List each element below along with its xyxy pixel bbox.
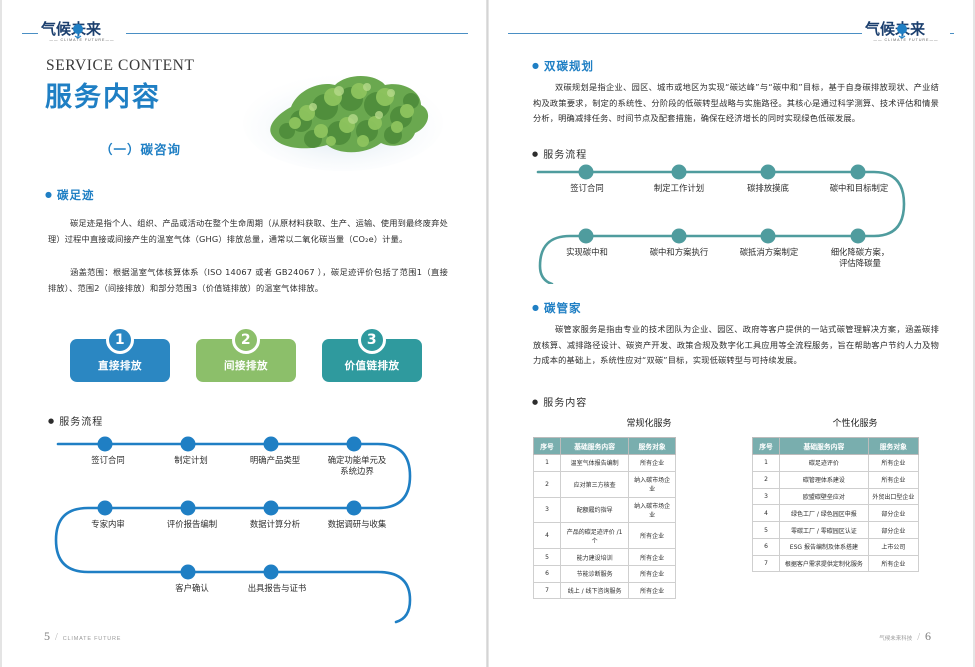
cell-target: 纳入碳市场企业 [629, 497, 676, 523]
logo-caption-right: CLIMATE FUTURE [865, 38, 947, 42]
cell-index: 2 [534, 471, 561, 497]
table-row: 3欧盟碳壁垒应对外贸出口型企业 [753, 488, 919, 505]
cell-target: 所有企业 [629, 582, 676, 599]
heading-carbon-steward: 碳管家 [532, 300, 581, 316]
flow-step-right-6: 碳抵消方案制定 [726, 247, 812, 258]
flow-step-left-5: 数据调研与收集 [312, 519, 402, 530]
footer-page-number-right: 6 [925, 629, 931, 643]
logo-left: 气候未来 CLIMATE FUTURE [38, 21, 126, 47]
table-row: 2应对第三方核查纳入碳市场企业 [534, 471, 676, 497]
cell-target: 上市公司 [868, 538, 918, 555]
table-col-service: 基础服务内容 [561, 438, 629, 455]
cell-service: 线上 / 线下咨询服务 [561, 582, 629, 599]
heading-service-content-label: 服务内容 [543, 398, 587, 409]
cell-target: 所有企业 [629, 523, 676, 549]
flow-step-right-4: 碳中和目标制定 [812, 183, 906, 194]
logo-text-left: 气候未来 [41, 20, 101, 38]
cell-service: 能力建设培训 [561, 549, 629, 566]
cell-service: 温室气体报告编制 [561, 455, 629, 472]
page-title-cn: 服务内容 [45, 75, 161, 114]
cell-service: 配额履约指导 [561, 497, 629, 523]
scope-card-label-3: 价值链排放 [345, 358, 400, 373]
cell-target: 所有企业 [868, 471, 918, 488]
footer-left: 5 / CLIMATE FUTURE [44, 629, 121, 644]
flow-step-left-9: 客户确认 [150, 583, 234, 594]
table-custom-services: 序号 基础服务内容 服务对象 1碳足迹评价所有企业2碳管理体系建设所有企业3欧盟… [752, 437, 919, 572]
paragraph-footprint-2: 涵盖范围：根据温室气体核算体系（ISO 14067 或者 GB24067 ），碳… [48, 265, 448, 296]
paragraph-footprint-1: 碳足迹是指个人、组织、产品或活动在整个生命周期（从原材料获取、生产、运输、使用到… [48, 216, 448, 247]
brochure-spread: 气候未来 CLIMATE FUTURE SERVICE CONTENT 服务内容… [0, 0, 975, 667]
flow-step-right-7: 碳中和方案执行 [637, 247, 721, 258]
scope-card-badge-1: 1 [106, 326, 134, 354]
cell-service: 根据客户需求提供定制化服务 [780, 555, 869, 572]
table-row: 1温室气体报告编制所有企业 [534, 455, 676, 472]
heading-service-flow-right-label: 服务流程 [543, 150, 587, 161]
scope-card-2[interactable]: 2 间接排放 [196, 339, 296, 382]
cell-index: 7 [753, 555, 780, 572]
bullet-dot-icon: ● [532, 150, 539, 158]
flow-step-right-5: 细化降碳方案， 评估降碳量 [816, 247, 904, 269]
cell-target: 所有企业 [629, 565, 676, 582]
heading-service-flow-right: ● 服务流程 [532, 146, 587, 161]
table-row: 5能力建设培训所有企业 [534, 549, 676, 566]
table-body: 1碳足迹评价所有企业2碳管理体系建设所有企业3欧盟碳壁垒应对外贸出口型企业4绿色… [753, 455, 919, 572]
flow-step-left-7: 评价报告编制 [150, 519, 234, 530]
cell-service: 零碳工厂 / 零碳园区认证 [780, 522, 869, 539]
table-col-index: 序号 [753, 438, 780, 455]
table-caption-standard: 常规化服务 [574, 416, 724, 429]
cell-index: 6 [534, 565, 561, 582]
cell-index: 1 [753, 455, 780, 472]
scope-card-label-2: 间接排放 [224, 358, 268, 373]
flow-step-left-10: 出具报告与证书 [233, 583, 321, 594]
logo-text-right: 气候未来 [865, 20, 925, 38]
table-row: 6节能诊断服务所有企业 [534, 565, 676, 582]
cell-service: 碳管理体系建设 [780, 471, 869, 488]
scope-card-badge-2: 2 [232, 326, 260, 354]
cell-service: 应对第三方核查 [561, 471, 629, 497]
forest-illustration [243, 45, 453, 185]
emission-scope-cards: 1 直接排放 2 间接排放 3 价值链排放 [70, 330, 410, 382]
cell-service: 节能诊断服务 [561, 565, 629, 582]
paragraph-planning-text: 双碳规划是指企业、园区、城市或地区为实现“碳达峰”与“碳中和”目标，基于自身碳排… [533, 80, 939, 127]
cell-index: 5 [534, 549, 561, 566]
cell-target: 所有企业 [868, 455, 918, 472]
flow-step-right-3: 碳排放摸底 [729, 183, 807, 194]
cell-service: 绿色工厂 / 绿色园区申报 [780, 505, 869, 522]
cell-target: 所有企业 [868, 555, 918, 572]
table-row: 1碳足迹评价所有企业 [753, 455, 919, 472]
table-row: 6ESG 报告编制及体系搭建上市公司 [753, 538, 919, 555]
logo-caption-left: CLIMATE FUTURE [41, 38, 123, 42]
cell-target: 纳入碳市场企业 [629, 471, 676, 497]
flow-step-right-2: 制定工作计划 [638, 183, 720, 194]
cell-target: 部分企业 [868, 505, 918, 522]
table-col-target: 服务对象 [629, 438, 676, 455]
table-body: 1温室气体报告编制所有企业2应对第三方核查纳入碳市场企业3配额履约指导纳入碳市场… [534, 455, 676, 599]
paragraph-text-2: 涵盖范围：根据温室气体核算体系（ISO 14067 或者 GB24067 ），碳… [48, 265, 448, 296]
cell-target: 部分企业 [868, 522, 918, 539]
section-label: （一）碳咨询 [100, 139, 181, 158]
flow-step-left-8: 专家内审 [68, 519, 148, 530]
cell-index: 3 [534, 497, 561, 523]
cell-service: 产品的碳足迹评价 /1 个 [561, 523, 629, 549]
spread-gutter [486, 0, 489, 667]
paragraph-steward: 碳管家服务是指由专业的技术团队为企业、园区、政府等客户提供的一站式碳管理解决方案… [533, 322, 939, 369]
table-row: 3配额履约指导纳入碳市场企业 [534, 497, 676, 523]
flow-step-left-2: 制定计划 [153, 455, 229, 466]
scope-card-badge-3: 3 [358, 326, 386, 354]
table-row: 7线上 / 线下咨询服务所有企业 [534, 582, 676, 599]
heading-service-flow-left: ● 服务流程 [48, 413, 103, 428]
footer-caption-right: 气候未来科技 [879, 636, 912, 642]
scope-card-label-1: 直接排放 [98, 358, 142, 373]
table-caption-custom: 个性化服务 [790, 416, 920, 429]
bullet-dot-icon: ● [48, 417, 55, 425]
paragraph-text-1: 碳足迹是指个人、组织、产品或活动在整个生命周期（从原材料获取、生产、运输、使用到… [48, 216, 448, 247]
page-title-en: SERVICE CONTENT [46, 57, 195, 75]
footer-page-number-left: 5 [44, 629, 50, 643]
cell-index: 3 [753, 488, 780, 505]
cell-target: 外贸出口型企业 [868, 488, 918, 505]
heading-dual-carbon-planning: 双碳规划 [532, 58, 594, 74]
table-row: 7根据客户需求提供定制化服务所有企业 [753, 555, 919, 572]
flow-step-left-3: 明确产品类型 [233, 455, 317, 466]
table-header-row: 序号 基础服务内容 服务对象 [534, 438, 676, 455]
paragraph-steward-text: 碳管家服务是指由专业的技术团队为企业、园区、政府等客户提供的一站式碳管理解决方案… [533, 322, 939, 369]
table-row: 2碳管理体系建设所有企业 [753, 471, 919, 488]
page-edge-left [0, 0, 2, 667]
bullet-dot-icon: ● [532, 398, 539, 406]
flow-step-right-1: 签订合同 [548, 183, 626, 194]
cell-index: 5 [753, 522, 780, 539]
cell-service: 碳足迹评价 [780, 455, 869, 472]
heading-service-content-right: ● 服务内容 [532, 394, 587, 409]
table-row: 4绿色工厂 / 绿色园区申报部分企业 [753, 505, 919, 522]
table-row: 4产品的碳足迹评价 /1 个所有企业 [534, 523, 676, 549]
cell-index: 4 [534, 523, 561, 549]
flow-step-left-1: 签订合同 [70, 455, 146, 466]
cell-service: 欧盟碳壁垒应对 [780, 488, 869, 505]
cell-index: 6 [753, 538, 780, 555]
table-col-target: 服务对象 [868, 438, 918, 455]
heading-service-flow-left-label: 服务流程 [59, 417, 103, 428]
cell-index: 1 [534, 455, 561, 472]
heading-carbon-footprint: 碳足迹 [45, 187, 94, 203]
flow-step-left-4: 确定功能单元及 系统边界 [312, 455, 402, 477]
paragraph-planning: 双碳规划是指企业、园区、城市或地区为实现“碳达峰”与“碳中和”目标，基于自身碳排… [533, 80, 939, 127]
table-row: 5零碳工厂 / 零碳园区认证部分企业 [753, 522, 919, 539]
table-col-index: 序号 [534, 438, 561, 455]
footer-right: 气候未来科技 / 6 [879, 629, 931, 644]
flow-step-right-8: 实现碳中和 [548, 247, 626, 258]
cell-target: 所有企业 [629, 549, 676, 566]
cell-target: 所有企业 [629, 455, 676, 472]
table-header-row: 序号 基础服务内容 服务对象 [753, 438, 919, 455]
logo-right: 气候未来 CLIMATE FUTURE [862, 21, 950, 47]
cell-service: ESG 报告编制及体系搭建 [780, 538, 869, 555]
footer-caption-left: CLIMATE FUTURE [63, 636, 121, 642]
scope-card-1[interactable]: 1 直接排放 [70, 339, 170, 382]
table-col-service: 基础服务内容 [780, 438, 869, 455]
flow-step-left-6: 数据计算分析 [233, 519, 317, 530]
cell-index: 4 [753, 505, 780, 522]
scope-card-3[interactable]: 3 价值链排放 [322, 339, 422, 382]
table-standard-services: 序号 基础服务内容 服务对象 1温室气体报告编制所有企业2应对第三方核查纳入碳市… [533, 437, 676, 599]
cell-index: 2 [753, 471, 780, 488]
cell-index: 7 [534, 582, 561, 599]
